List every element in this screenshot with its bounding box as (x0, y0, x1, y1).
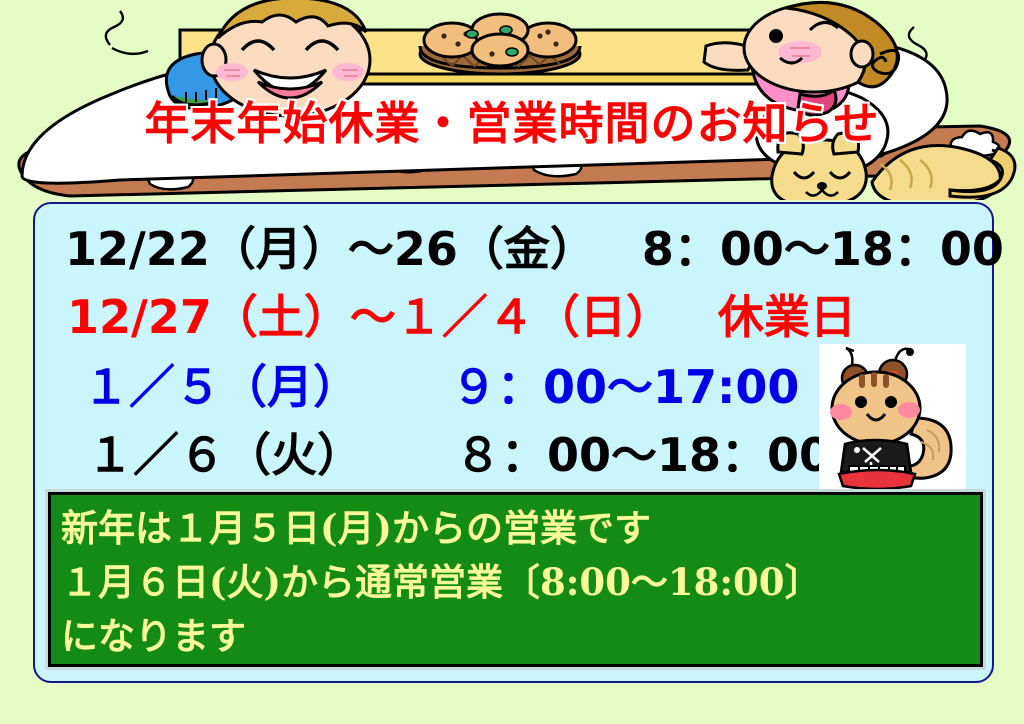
mascot-cheek-right (898, 402, 920, 418)
mascot-eye-left-icon (855, 396, 867, 408)
schedule-date: １／５（月） (83, 351, 359, 417)
schedule-date: 12/27（土）～１／４（日） (67, 281, 672, 347)
cat-ear-left-icon (778, 133, 804, 154)
mascot-eye-right-icon (885, 396, 897, 408)
notice-line: 新年は１月５日(月)からの営業です (61, 501, 976, 555)
header-illustration (0, 0, 1024, 200)
schedule-time: ９：00～17:00 (451, 351, 799, 417)
mascot-image (819, 344, 966, 489)
mascot-base (839, 470, 915, 489)
business-hours-panel: 12/22（月）～26（金） 8：00～18：00 12/27（土）～１／４（日… (33, 202, 994, 683)
schedule-date: １／６（火） (87, 419, 363, 485)
cat-nose-icon (817, 182, 827, 190)
schedule-row: 12/22（月）～26（金） 8：00～18：00 (35, 214, 1022, 278)
notice-line: １月６日(火)から通常営業〔8:00～18:00〕 (61, 555, 976, 609)
notice-line: になります (61, 609, 976, 663)
schedule-status: 休業日 (718, 281, 856, 347)
schedule-time: ８：00～18：00 (455, 419, 831, 485)
cookie-basket (420, 14, 580, 74)
schedule-date: 12/22（月）～26（金） (65, 213, 596, 279)
girl-eye-left-icon (769, 29, 783, 43)
mascot-cheek-left (830, 404, 852, 420)
schedule-gap (359, 351, 451, 417)
schedule-gap (363, 419, 455, 485)
schedule-row: 12/27（土）～１／４（日） 休業日 (35, 282, 1024, 346)
schedule-time: 8：00～18：00 (642, 213, 1004, 279)
new-year-notice-box: 新年は１月５日(月)からの営業です １月６日(火)から通常営業〔8:00～18:… (48, 492, 983, 667)
cat-ear-right-icon (833, 133, 859, 154)
schedule-gap (672, 281, 718, 347)
cookies (424, 14, 576, 66)
schedule-gap (596, 213, 642, 279)
